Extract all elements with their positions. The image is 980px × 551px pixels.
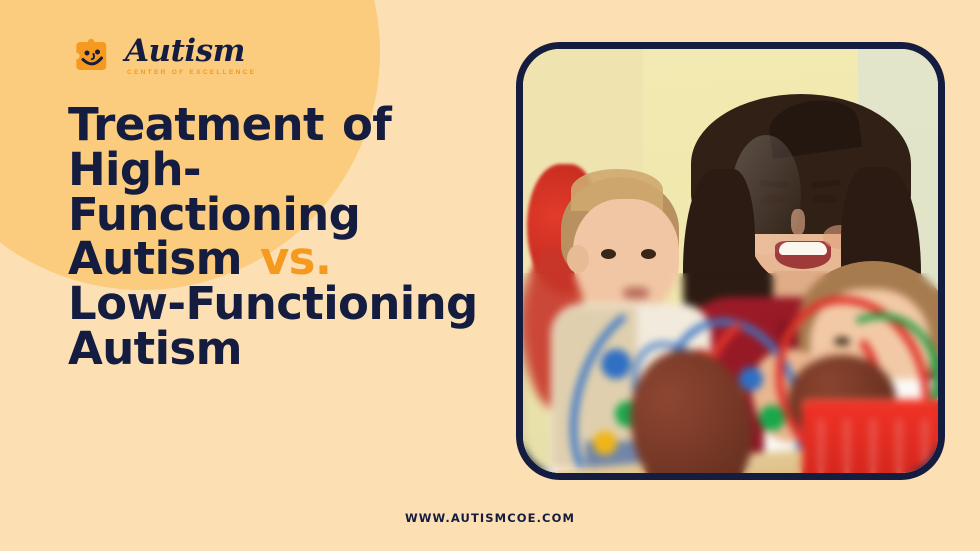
brand-logo[interactable]: Autism CENTER OF EXCELLENCE: [68, 30, 256, 82]
hero-photo-frame: [516, 42, 945, 480]
logo-wordmark: Autism: [125, 36, 256, 67]
hero-photo: [523, 49, 938, 473]
puzzle-piece-smiley-logo-icon: [68, 32, 116, 80]
promotional-banner: Autism CENTER OF EXCELLENCE Treatment of…: [0, 0, 980, 551]
headline-line-6: Autism: [68, 322, 242, 375]
headline-title: Treatment of High- Functioning Autism vs…: [68, 103, 498, 372]
logo-tagline: CENTER OF EXCELLENCE: [127, 70, 256, 77]
footer-website-url[interactable]: WWW.AUTISMCOE.COM: [0, 511, 980, 525]
